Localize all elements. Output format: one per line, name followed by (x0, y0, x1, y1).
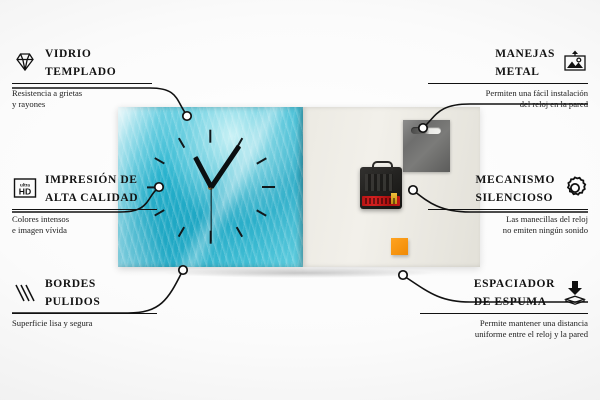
clock-tick (256, 209, 266, 216)
battery-segment (365, 198, 367, 204)
callout-header: MANEJAS METAL (428, 44, 588, 80)
callout-title: MECANISMO SILENCIOSO (475, 170, 555, 206)
callout-header: ultra HD IMPRESIÓN DE ALTA CALIDAD (12, 170, 157, 206)
clock-second-hand (210, 187, 211, 242)
clock-tick (209, 130, 211, 143)
callout-title: IMPRESIÓN DE ALTA CALIDAD (45, 170, 138, 206)
callout-mecanismo-silencioso[interactable]: MECANISMO SILENCIOSO Las manecillas del … (428, 170, 588, 236)
clock-movement-box (360, 167, 402, 209)
battery-segment (377, 198, 379, 204)
callout-divider (428, 83, 588, 84)
product-image (118, 107, 480, 267)
movement-hook (372, 161, 393, 171)
callout-bordes-pulidos[interactable]: BORDES PULIDOS Superficie lisa y segura (12, 274, 157, 329)
foam-spacer-arrow-icon (562, 279, 588, 305)
callout-impresion-alta-calidad[interactable]: ultra HD IMPRESIÓN DE ALTA CALIDAD Color… (12, 170, 157, 236)
callout-subtitle-line2: uniforme entre el reloj y la pared (420, 329, 588, 340)
callout-subtitle-line1: Permite mantener una distancia (420, 318, 588, 329)
callout-subtitle-line2: e imagen vívida (12, 225, 157, 236)
callout-title: VIDRIO TEMPLADO (45, 44, 116, 80)
clock-tick (155, 158, 165, 165)
clock-tick (178, 226, 185, 236)
callout-subtitle-line2: del reloj en la pared (428, 99, 588, 110)
callout-divider (428, 209, 588, 210)
callout-divider (12, 313, 157, 314)
callout-title: ESPACIADOR DE ESPUMA (474, 274, 555, 310)
callout-divider (420, 313, 588, 314)
callout-subtitle-line1: Permiten una fácil instalación (428, 88, 588, 99)
battery-segment (369, 198, 371, 204)
movement-texture (365, 174, 393, 191)
callout-subtitle-line2: y rayones (12, 99, 152, 110)
ultra-hd-icon: ultra HD (12, 175, 38, 201)
callout-header: BORDES PULIDOS (12, 274, 157, 310)
callout-divider (12, 209, 157, 210)
callout-subtitle-line1: Colores intensos (12, 214, 157, 225)
wall-hanging-frame-icon (562, 49, 588, 75)
callout-manejas-metal[interactable]: MANEJAS METAL Permiten una fácil instala… (428, 44, 588, 110)
callout-vidrio-templado[interactable]: VIDRIO TEMPLADO Resistencia a grietas y … (12, 44, 152, 110)
callout-header: ESPACIADOR DE ESPUMA (420, 274, 588, 310)
battery-segment (381, 198, 383, 204)
metal-hanger-plate (403, 120, 450, 172)
gear-icon (562, 175, 588, 201)
callout-header: VIDRIO TEMPLADO (12, 44, 152, 80)
callout-title: BORDES PULIDOS (45, 274, 100, 310)
foam-spacer-pad (391, 238, 408, 255)
callout-subtitle-line1: Superficie lisa y segura (12, 318, 157, 329)
callout-subtitle-line1: Las manecillas del reloj (428, 214, 588, 225)
battery-segment (393, 198, 395, 204)
battery-compartment (362, 196, 400, 206)
callout-header: MECANISMO SILENCIOSO (428, 170, 588, 206)
clock-tick (236, 226, 243, 236)
svg-text:HD: HD (19, 186, 31, 196)
clock-tick (262, 186, 275, 188)
callout-divider (12, 83, 152, 84)
infographic-canvas: VIDRIO TEMPLADO Resistencia a grietas y … (0, 0, 600, 400)
clock-tick (256, 158, 266, 165)
callout-subtitle-line2: no emiten ningún sonido (428, 225, 588, 236)
clock-minute-hand (209, 144, 241, 188)
battery-segment (389, 198, 391, 204)
callout-espaciador-espuma[interactable]: ESPACIADOR DE ESPUMA Permite mantener un… (420, 274, 588, 340)
polished-edges-icon (12, 279, 38, 305)
diamond-icon (12, 49, 38, 75)
clock-tick (178, 137, 185, 147)
battery-segment (385, 198, 387, 204)
callout-subtitle-line1: Resistencia a grietas (12, 88, 152, 99)
hanger-slot (411, 127, 441, 134)
callout-title: MANEJAS METAL (495, 44, 555, 80)
battery-segment (373, 198, 375, 204)
